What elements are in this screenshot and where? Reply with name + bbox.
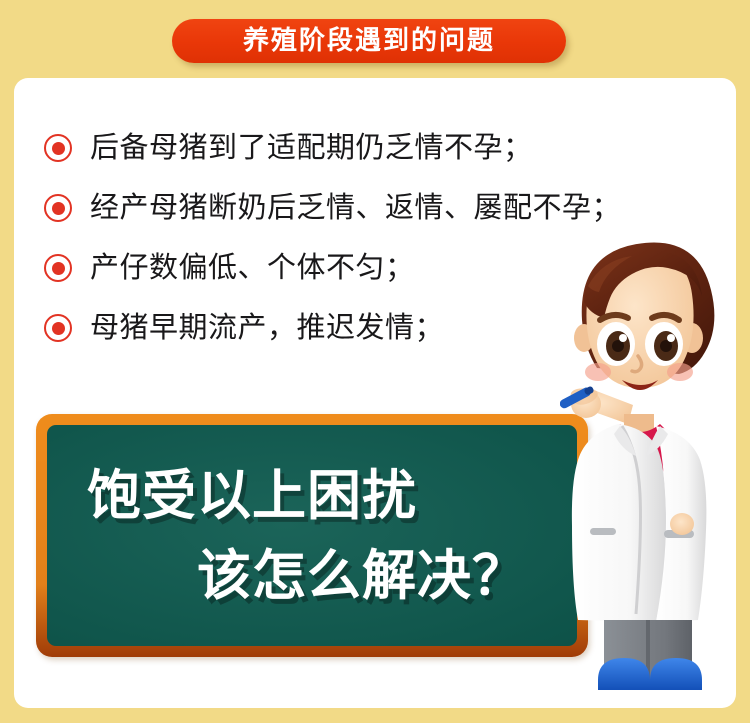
list-item-label: 母猪早期流产，推迟发情； (90, 312, 444, 344)
list-item-label: 后备母猪到了适配期仍乏情不孕； (90, 132, 533, 164)
list-item-label: 经产母猪断奶后乏情、返情、屡配不孕； (90, 192, 621, 224)
blackboard-line-1: 饱受以上困扰 (87, 469, 417, 523)
list-item-label: 产仔数偏低、个体不匀； (90, 252, 415, 284)
blackboard-surface: 饱受以上困扰 该怎么解决？ (47, 425, 577, 646)
list-item: 后备母猪到了适配期仍乏情不孕； (44, 118, 684, 178)
character-arm-with-pen (560, 385, 633, 424)
blackboard-line-2: 该怎么解决？ (197, 549, 527, 603)
radio-bullet-icon (44, 134, 72, 162)
radio-bullet-icon (44, 254, 72, 282)
page-title: 养殖阶段遇到的问题 (243, 28, 495, 54)
radio-bullet-icon (44, 314, 72, 342)
radio-bullet-icon (44, 194, 72, 222)
cartoon-doctor-illustration (560, 228, 750, 708)
blackboard-panel: 饱受以上困扰 该怎么解决？ (36, 414, 588, 657)
section-title-banner: 养殖阶段遇到的问题 (172, 19, 566, 63)
